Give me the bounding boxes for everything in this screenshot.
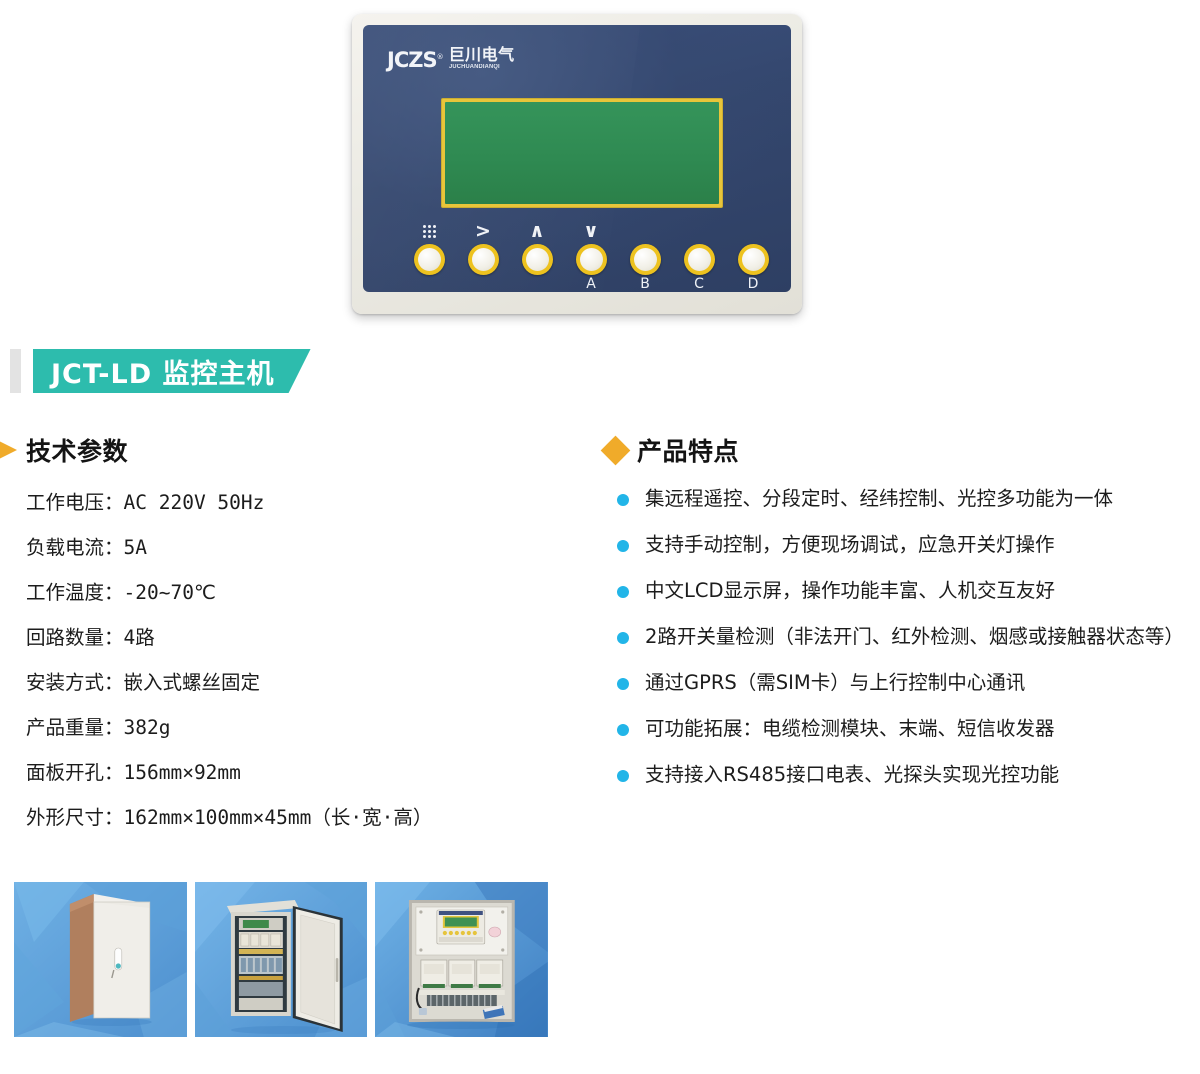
key-button-c[interactable] (684, 244, 715, 275)
bullet-dot-icon (617, 494, 629, 506)
brand-logo: JCZS® 巨川电气 JUCHUANDIANQI (387, 47, 515, 71)
key-label-a: A (569, 275, 613, 292)
key-column-d: D (731, 221, 775, 292)
product-features-column: 产品特点 集远程遥控、分段定时、经纬控制、光控多功能为一体 支持手动控制，方便现… (605, 430, 1200, 802)
chevron-right-icon: > (461, 221, 505, 241)
product-features-heading: 产品特点 (605, 430, 1200, 470)
feature-text: 中文LCD显示屏，操作功能丰富、人机交互友好 (645, 579, 1055, 602)
feature-item: 通过GPRS（需SIM卡）与上行控制中心通讯 (613, 664, 1200, 701)
feature-item: 支持手动控制，方便现场调试，应急开关灯操作 (613, 526, 1200, 563)
spec-item: 负载电流：5A (26, 525, 600, 570)
key-column-c: C (677, 221, 721, 292)
key-button-d[interactable] (738, 244, 769, 275)
key-label-d: D (731, 275, 775, 292)
brand-chinese-block: 巨川电气 JUCHUANDIANQI (449, 47, 515, 71)
bullet-dot-icon (617, 632, 629, 644)
key-button-a[interactable] (576, 244, 607, 275)
key-label-b: B (623, 275, 667, 292)
device-bezel: JCZS® 巨川电气 JUCHUANDIANQI (352, 14, 802, 314)
bullet-dot-icon (617, 540, 629, 552)
feature-text: 通过GPRS（需SIM卡）与上行控制中心通讯 (645, 671, 1025, 694)
application-photo-strip (14, 882, 548, 1037)
brand-chinese-name: 巨川电气 (449, 47, 515, 63)
key-column-menu (407, 221, 451, 292)
photo-open-cabinet-with-components (195, 882, 368, 1037)
chevron-down-icon: ∨ (569, 221, 613, 241)
closed-cabinet-illustration (14, 882, 187, 1037)
technical-parameters-title: 技术参数 (26, 432, 128, 468)
open-cabinet-illustration (195, 882, 368, 1037)
bullet-dot-icon (617, 586, 629, 598)
spec-item: 外形尺寸：162mm×100mm×45mm（长·宽·高） (26, 795, 600, 840)
key-button-right[interactable] (468, 244, 499, 275)
bullet-dot-icon (617, 724, 629, 736)
banner-left-bar (10, 349, 21, 393)
key-column-up: ∧ (515, 221, 559, 292)
cabinet-interior-illustration (375, 882, 548, 1037)
key-button-up[interactable] (522, 244, 553, 275)
feature-list: 集远程遥控、分段定时、经纬控制、光控多功能为一体 支持手动控制，方便现场调试，应… (605, 480, 1200, 793)
arrow-right-icon (0, 439, 17, 461)
feature-item: 集远程遥控、分段定时、经纬控制、光控多功能为一体 (613, 480, 1200, 517)
spec-item: 工作温度：-20~70℃ (26, 570, 600, 615)
feature-text: 可功能拓展：电缆检测模块、末端、短信收发器 (645, 717, 1055, 740)
keypad: > ∧ ∨ A (407, 221, 767, 292)
feature-item: 可功能拓展：电缆检测模块、末端、短信收发器 (613, 710, 1200, 747)
feature-text: 支持接入RS485接口电表、光探头实现光控功能 (645, 763, 1059, 786)
technical-parameters-heading: 技术参数 (0, 430, 600, 470)
diamond-icon (601, 435, 631, 465)
product-features-title: 产品特点 (637, 432, 739, 468)
technical-parameters-column: 技术参数 工作电压：AC 220V 50Hz 负载电流：5A 工作温度：-20~… (0, 430, 600, 840)
lcd-screen (445, 102, 719, 204)
bullet-dot-icon (617, 678, 629, 690)
key-button-b[interactable] (630, 244, 661, 275)
spec-item: 面板开孔：156mm×92mm (26, 750, 600, 795)
spec-item: 工作电压：AC 220V 50Hz (26, 480, 600, 525)
registered-mark: ® (437, 53, 443, 61)
bullet-dot-icon (617, 770, 629, 782)
feature-text: 2路开关量检测（非法开门、红外检测、烟感或接触器状态等） (645, 625, 1184, 648)
feature-text: 集远程遥控、分段定时、经纬控制、光控多功能为一体 (645, 487, 1113, 510)
chevron-up-icon: ∧ (515, 221, 559, 241)
brand-mark-letters: JCZS (387, 48, 437, 72)
banner-body: JCT-LD 监控主机 (33, 349, 311, 393)
lcd-bezel (441, 98, 723, 208)
key-label-c: C (677, 275, 721, 292)
photo-closed-control-cabinet (14, 882, 187, 1037)
feature-item: 2路开关量检测（非法开门、红外检测、烟感或接触器状态等） (613, 618, 1200, 655)
product-image: JCZS® 巨川电气 JUCHUANDIANQI (352, 14, 802, 314)
brand-mark-text: JCZS® (387, 50, 443, 71)
key-column-b: B (623, 221, 667, 292)
key-button-menu[interactable] (414, 244, 445, 275)
spec-item: 安装方式：嵌入式螺丝固定 (26, 660, 600, 705)
key-column-down-a: ∨ A (569, 221, 613, 292)
spec-item: 产品重量：382g (26, 705, 600, 750)
feature-item: 中文LCD显示屏，操作功能丰富、人机交互友好 (613, 572, 1200, 609)
spec-item: 回路数量：4路 (26, 615, 600, 660)
page-title: JCT-LD 监控主机 (51, 352, 275, 391)
feature-text: 支持手动控制，方便现场调试，应急开关灯操作 (645, 533, 1055, 556)
product-title-banner: JCT-LD 监控主机 (10, 349, 311, 393)
key-column-right: > (461, 221, 505, 292)
brand-pinyin: JUCHUANDIANQI (449, 64, 500, 70)
spec-list: 工作电压：AC 220V 50Hz 负载电流：5A 工作温度：-20~70℃ 回… (0, 480, 600, 840)
device-front-panel: JCZS® 巨川电气 JUCHUANDIANQI (363, 25, 791, 292)
feature-item: 支持接入RS485接口电表、光探头实现光控功能 (613, 756, 1200, 793)
menu-grid-icon (407, 221, 451, 241)
photo-cabinet-interior-controller (375, 882, 548, 1037)
